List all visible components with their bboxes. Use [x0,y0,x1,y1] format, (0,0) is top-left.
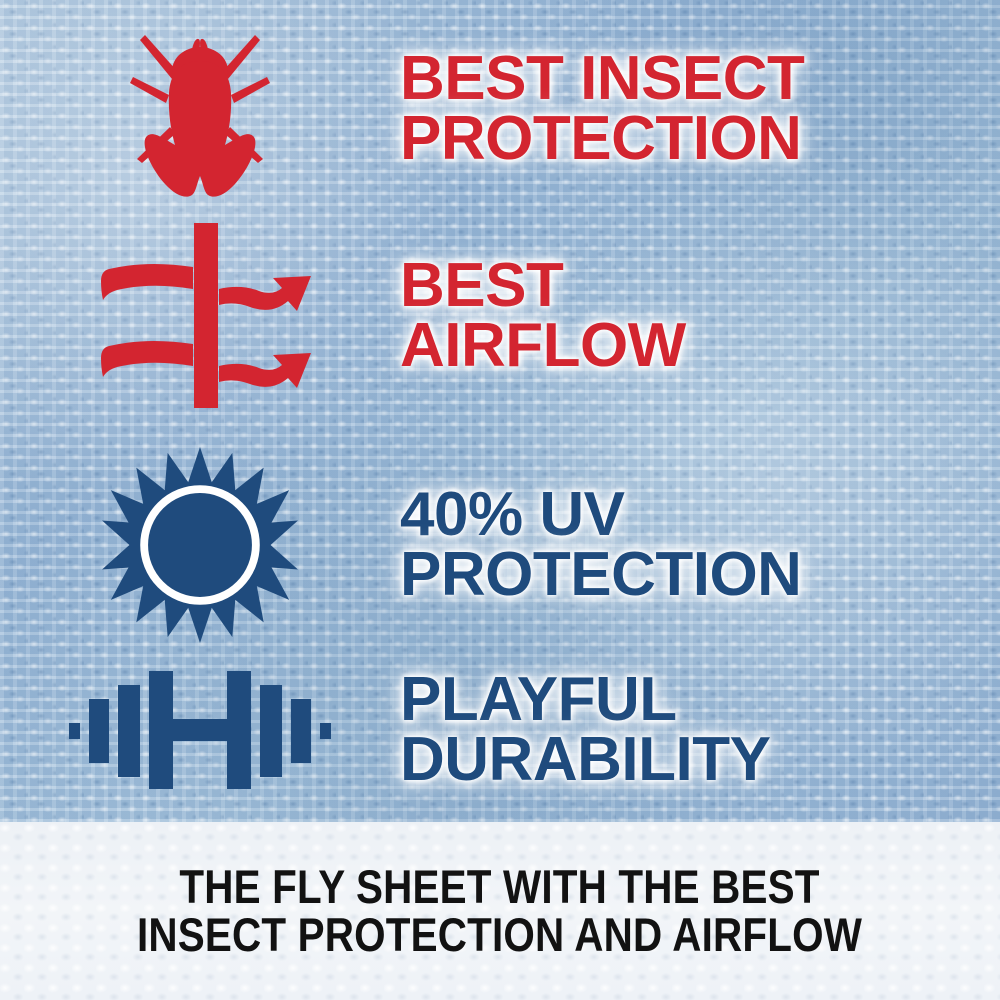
caption-bar: THE FLY SHEET WITH THE BEST INSECT PROTE… [0,822,1000,1000]
feature-list: BEST INSECT PROTECTION [0,0,1000,822]
text-cell-uv-protection: 40% UV PROTECTION [400,485,1000,604]
feature-row-uv-protection: 40% UV PROTECTION [0,440,1000,650]
feature-row-durability: PLAYFUL DURABILITY [0,645,1000,815]
sun-uv-icon [102,447,298,643]
feature-label-airflow: BEST AIRFLOW [400,256,686,375]
feature-row-insect-protection: BEST INSECT PROTECTION [0,14,1000,204]
feature-label-uv-protection: 40% UV PROTECTION [400,485,801,604]
icon-cell-dumbbell [0,665,400,795]
text-cell-insect-protection: BEST INSECT PROTECTION [400,49,1000,168]
airflow-arrows-icon [93,223,308,408]
text-cell-airflow: BEST AIRFLOW [400,256,1000,375]
dumbbell-icon [69,665,331,795]
fly-icon [125,19,275,199]
caption-headline: THE FLY SHEET WITH THE BEST INSECT PROTE… [137,863,862,959]
feature-row-airflow: BEST AIRFLOW [0,218,1000,413]
icon-cell-fly [0,19,400,199]
feature-label-durability: PLAYFUL DURABILITY [400,670,770,789]
infographic-poster: BEST INSECT PROTECTION [0,0,1000,1000]
feature-label-insect-protection: BEST INSECT PROTECTION [400,49,804,168]
icon-cell-airflow [0,223,400,408]
text-cell-durability: PLAYFUL DURABILITY [400,670,1000,789]
icon-cell-sun [0,447,400,643]
